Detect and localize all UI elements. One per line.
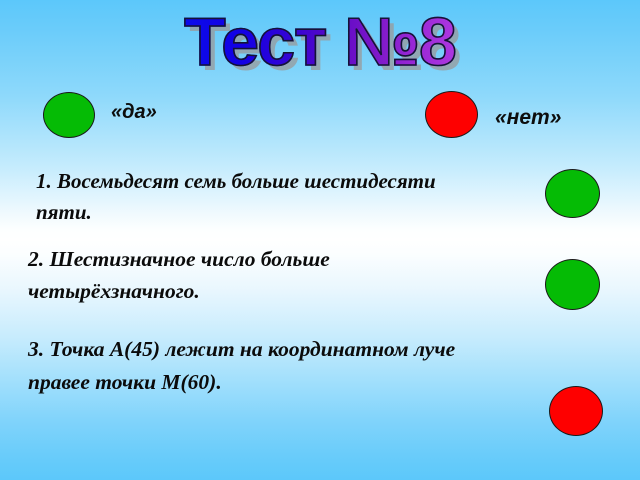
answer-marker-2 <box>545 259 600 310</box>
legend-yes-marker-icon <box>43 92 95 138</box>
title-face-layer: Тест №8 <box>184 4 456 80</box>
question-item-1: 1. Восемьдесят семь больше шестидесяти п… <box>36 166 466 228</box>
legend-no-label: «нет» <box>495 106 561 130</box>
slide-canvas: Тест №8 Тест №8 «да» «нет» 1. Восемьдеся… <box>0 0 640 480</box>
legend-no-marker-icon <box>425 91 478 138</box>
slide-title: Тест №8 Тест №8 <box>0 2 640 84</box>
question-item-2: 2. Шестизначное число больше четырёхзнач… <box>28 243 480 307</box>
legend-yes-label: «да» <box>111 101 157 124</box>
answer-marker-3 <box>549 386 603 436</box>
question-item-3: 3. Точка А(45) лежит на координатном луч… <box>28 333 468 399</box>
answer-marker-1 <box>545 169 600 218</box>
title-wordart: Тест №8 Тест №8 <box>184 2 456 82</box>
